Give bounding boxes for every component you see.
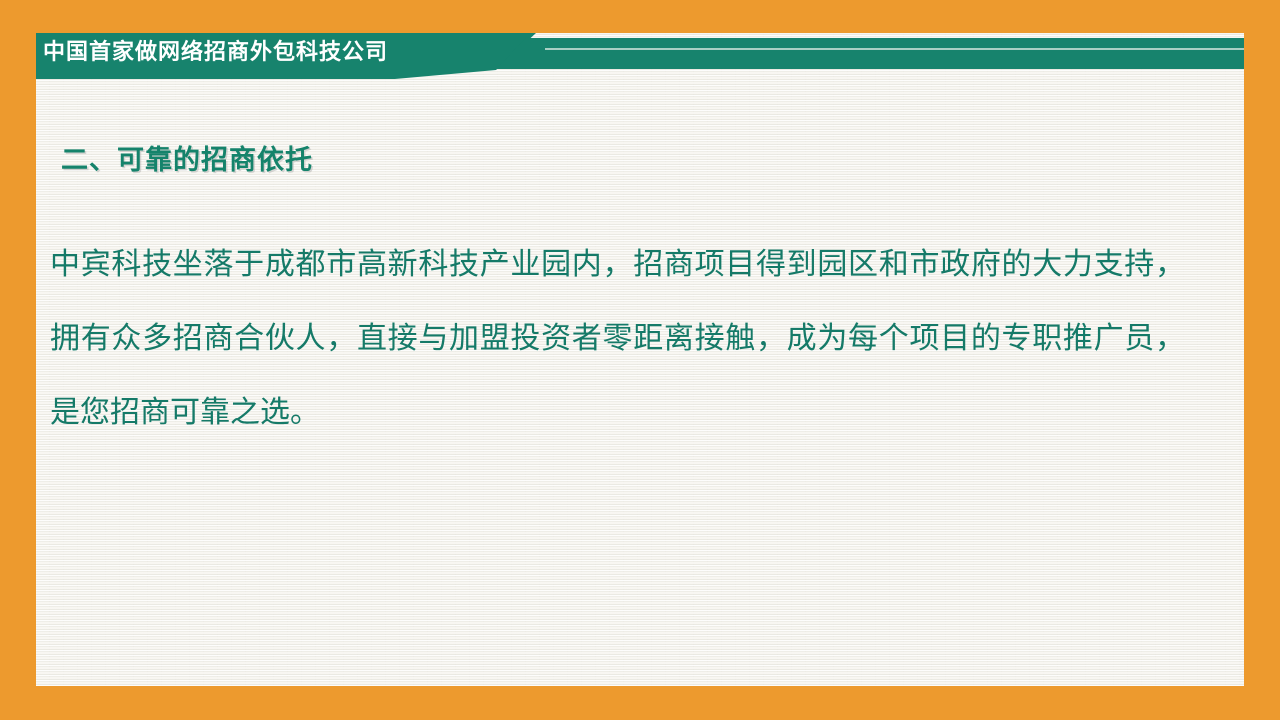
slide-root: 中国首家做网络招商外包科技公司 二、可靠的招商依托 中宾科技坐落于成都市高新科技… xyxy=(0,0,1280,720)
body-paragraph: 中宾科技坐落于成都市高新科技产业园内，招商项目得到园区和市政府的大力支持，拥有众… xyxy=(50,228,1185,450)
section-heading: 二、可靠的招商依托 xyxy=(61,138,313,177)
